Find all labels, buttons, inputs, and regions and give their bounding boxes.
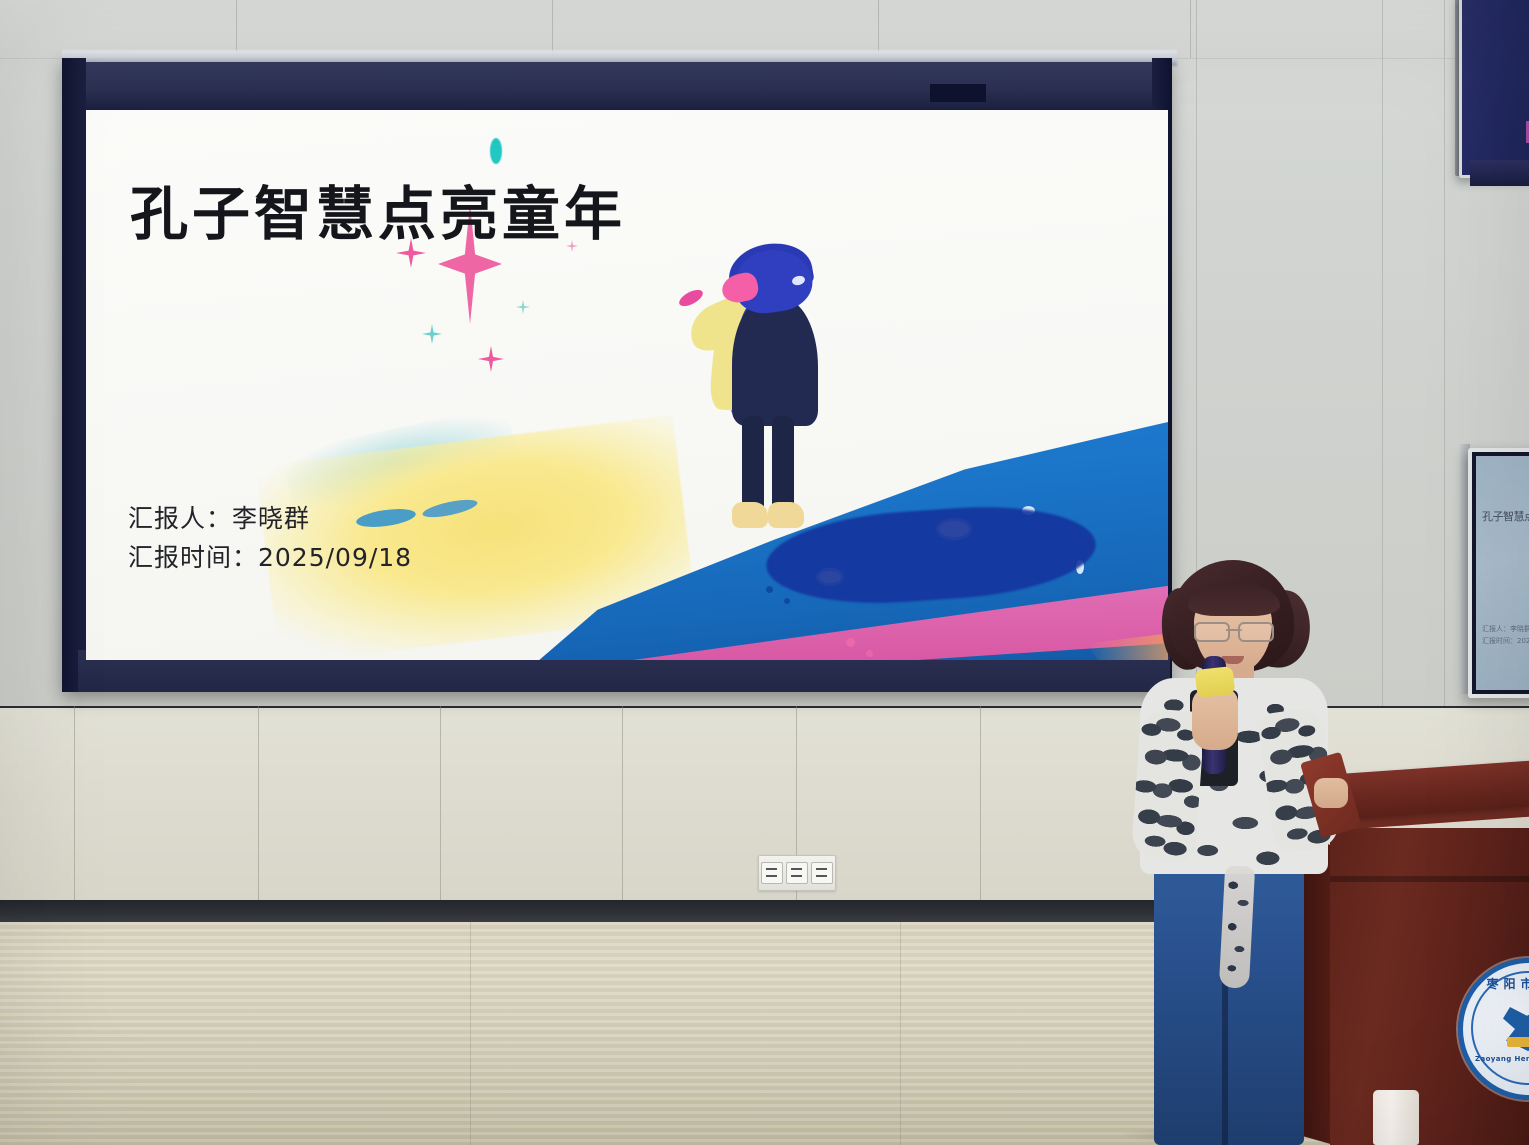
sparkle-star	[478, 346, 504, 372]
slide-surface: 孔子智慧点亮童年 汇报人：李晓群 汇报时间：2025/09/18	[86, 110, 1168, 660]
sparkle-star-teal	[516, 300, 530, 314]
glasses-icon	[1194, 622, 1274, 638]
wall-panel-seam	[258, 706, 259, 902]
side-monitor-title: 孔子智慧点亮童年	[1482, 508, 1529, 524]
presenter	[1118, 560, 1338, 1145]
emblem-english-text: Zaoyang Hengda Middle	[1465, 1055, 1529, 1063]
screenshot-scene: 孔子智慧点亮童年 汇报人：李晓群 汇报时间：2025/09/18 孔子智慧点亮童…	[0, 0, 1529, 1145]
illustration-child-figure	[686, 230, 846, 580]
slide-title: 孔子智慧点亮童年	[130, 185, 626, 243]
outlet-socket[interactable]	[811, 862, 833, 884]
illustration-wand	[677, 287, 706, 310]
illustration-child-shoe	[732, 502, 768, 528]
wall-vertical-seam	[1382, 0, 1383, 706]
wall-tv-mount	[1470, 160, 1529, 186]
illustration-child-leg	[742, 416, 764, 514]
emblem-chinese-text: 枣阳市恒大	[1469, 975, 1529, 992]
side-monitor-meta-line-1: 汇报人：李晓群	[1482, 624, 1529, 635]
sparkle-star-teal	[422, 324, 442, 344]
microphone-foam-windscreen	[1195, 666, 1236, 698]
illustration-dot	[784, 598, 790, 604]
emblem-book-icon	[1507, 1037, 1529, 1047]
illustration-child-shoe	[768, 502, 804, 528]
slide-meta-block: 汇报人：李晓群 汇报时间：2025/09/18	[128, 500, 412, 578]
presenter-hand-holding-mic	[1192, 688, 1238, 750]
illustration-dot	[766, 586, 773, 593]
wall-mounted-tv[interactable]	[1459, 0, 1529, 178]
illustration-child-coat	[732, 298, 818, 426]
floor-plank-seam	[470, 922, 471, 1145]
side-confidence-monitor[interactable]: 孔子智慧点亮童年 汇报人：李晓群 汇报时间：2025/09/18	[1468, 448, 1529, 698]
screen-top-border	[66, 62, 1166, 110]
podium-cup	[1373, 1090, 1419, 1145]
illustration-teal-dot	[490, 138, 502, 164]
presenter-right-hand	[1314, 778, 1348, 808]
illustration-child-leg	[772, 416, 794, 514]
wall-vertical-seam	[1444, 0, 1445, 706]
side-monitor-screen: 孔子智慧点亮童年 汇报人：李晓群 汇报时间：2025/09/18	[1476, 456, 1529, 690]
wall-panel-seam	[440, 706, 441, 902]
presenter-hanging-scarf	[1219, 865, 1255, 988]
wall-power-outlet[interactable]	[758, 855, 836, 891]
outlet-socket[interactable]	[786, 862, 808, 884]
floor-plank-seam	[900, 922, 901, 1145]
screen-left-border	[62, 58, 86, 692]
podium-trim	[1330, 876, 1529, 882]
wall-top-seam	[1190, 0, 1191, 58]
screen-top-notch	[930, 84, 986, 102]
side-monitor-meta-line-2: 汇报时间：2025/09/18	[1482, 636, 1529, 647]
slide-presenter-line: 汇报人：李晓群	[128, 500, 412, 539]
wall-panel-seam	[980, 706, 981, 902]
slide-date-line: 汇报时间：2025/09/18	[128, 539, 412, 578]
wall-panel-seam	[622, 706, 623, 902]
wall-panel-seam	[74, 706, 75, 902]
outlet-socket[interactable]	[761, 862, 783, 884]
